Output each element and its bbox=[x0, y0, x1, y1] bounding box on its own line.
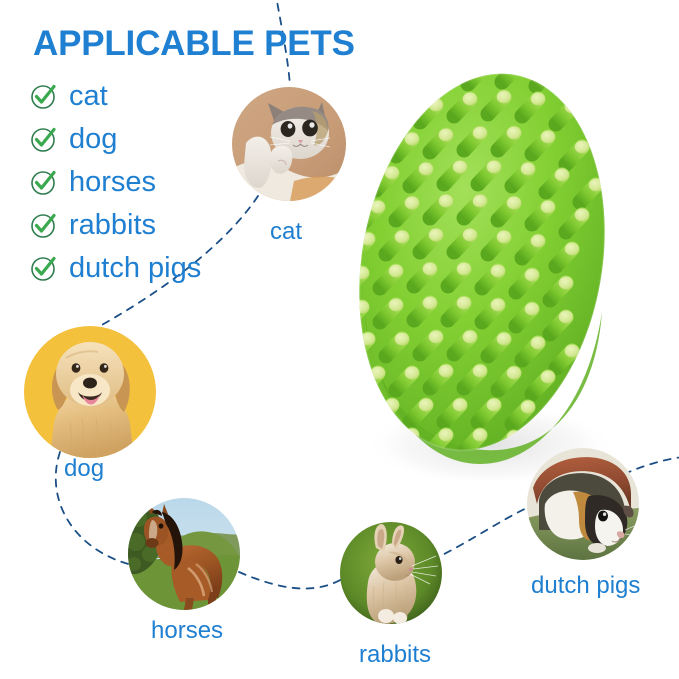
bubble-horses bbox=[128, 498, 240, 610]
bubble-label-dutch-pigs: dutch pigs bbox=[531, 572, 640, 600]
list-item-label: cat bbox=[69, 77, 108, 115]
list-item: dutch pigs bbox=[30, 252, 280, 295]
page-title: APPLICABLE PETS bbox=[33, 24, 355, 64]
bubble-label-cat: cat bbox=[270, 218, 302, 246]
check-circle-icon bbox=[30, 168, 58, 196]
rabbit-photo bbox=[340, 522, 442, 624]
bubble-label-dog: dog bbox=[64, 455, 104, 483]
dog-photo bbox=[24, 326, 156, 458]
horse-photo bbox=[128, 498, 240, 610]
list-item-label: rabbits bbox=[69, 206, 156, 244]
bubble-label-horses: horses bbox=[151, 617, 223, 645]
bubble-rabbits bbox=[340, 522, 442, 624]
check-circle-icon bbox=[30, 211, 58, 239]
infographic-canvas: APPLICABLE PETS cat dog bbox=[0, 0, 679, 679]
connector-horse-to-rabbit bbox=[239, 572, 344, 589]
bubble-dog bbox=[24, 326, 156, 458]
bubble-cat bbox=[232, 87, 346, 201]
check-circle-icon bbox=[30, 254, 58, 282]
check-circle-icon bbox=[30, 125, 58, 153]
cat-photo bbox=[232, 87, 346, 201]
list-item-label: dog bbox=[69, 120, 117, 158]
check-circle-icon bbox=[30, 82, 58, 110]
list-item-label: dutch pigs bbox=[69, 249, 201, 287]
product-image-grooming-brush bbox=[330, 50, 630, 480]
list-item-label: horses bbox=[69, 163, 156, 201]
connector-rabbit-to-pig bbox=[432, 505, 533, 560]
list-item: rabbits bbox=[30, 209, 280, 252]
bubble-dutch-pigs bbox=[527, 448, 639, 560]
bubble-label-rabbits: rabbits bbox=[359, 641, 431, 669]
guinea-pig-photo bbox=[527, 448, 639, 560]
